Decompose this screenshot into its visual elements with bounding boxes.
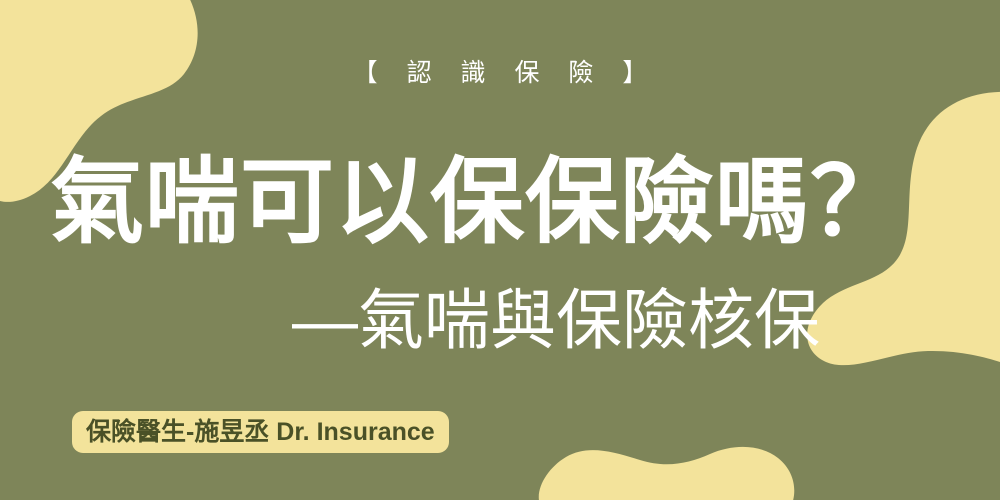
poster-kicker: 【 認 識 保 險 】 [0,58,1000,88]
poster-title: 氣喘可以保保險嗎？ [50,155,905,249]
poster-content: 【 認 識 保 險 】 氣喘可以保保險嗎？ —氣喘與保險核保 保險醫生-施昱丞 … [0,0,1000,500]
poster-subtitle: —氣喘與保險核保 [292,287,820,353]
author-badge-label: 保險醫生-施昱丞 Dr. Insurance [86,420,435,445]
author-badge: 保險醫生-施昱丞 Dr. Insurance [72,411,449,453]
poster-canvas: 【 認 識 保 險 】 氣喘可以保保險嗎？ —氣喘與保險核保 保險醫生-施昱丞 … [0,0,1000,500]
